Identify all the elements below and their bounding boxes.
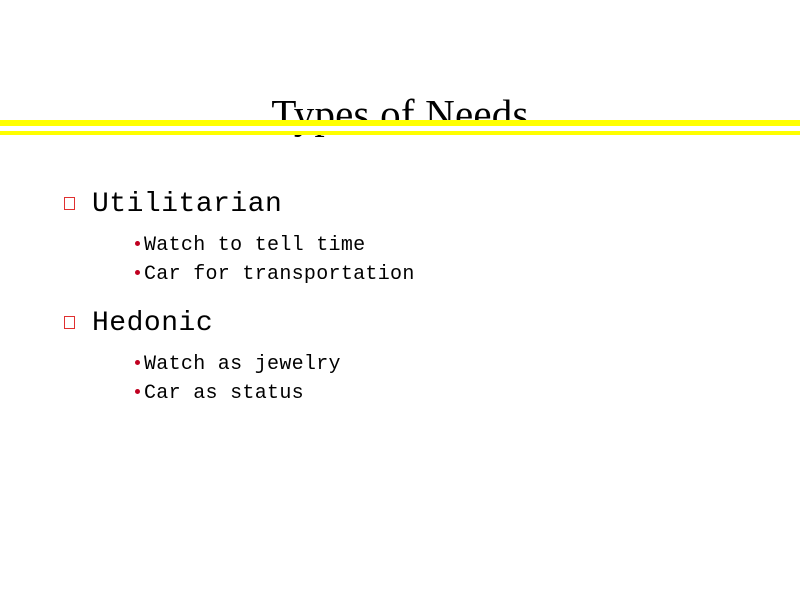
presentation-slide: Types of Needs Utilitarian Watch to tell…	[0, 0, 800, 600]
outline-level1-row: Utilitarian	[0, 186, 800, 226]
outline-level2-list: Watch as jewelry Car as status	[0, 351, 800, 409]
outline-level2-label: Watch as jewelry	[144, 351, 341, 379]
outline-level2-list: Watch to tell time Car for transportatio…	[0, 232, 800, 290]
round-dot-bullet-icon	[135, 389, 140, 394]
outline-level1-label: Hedonic	[92, 305, 213, 343]
list-item: Watch as jewelry	[0, 351, 800, 380]
outline-group-utilitarian: Utilitarian Watch to tell time Car for t…	[0, 186, 800, 290]
outline-level2-label: Watch to tell time	[144, 232, 365, 260]
hollow-square-bullet-icon	[64, 316, 75, 329]
outline-group-hedonic: Hedonic Watch as jewelry Car as status	[0, 305, 800, 409]
slide-body: Utilitarian Watch to tell time Car for t…	[0, 150, 800, 600]
outline-level2-label: Car as status	[144, 380, 304, 408]
list-item: Car for transportation	[0, 261, 800, 290]
round-dot-bullet-icon	[135, 241, 140, 246]
outline-level1-row: Hedonic	[0, 305, 800, 345]
round-dot-bullet-icon	[135, 360, 140, 365]
divider-bar-thin	[0, 131, 800, 135]
outline-level1-label: Utilitarian	[92, 186, 282, 224]
outline-level2-label: Car for transportation	[144, 261, 415, 289]
list-item: Watch to tell time	[0, 232, 800, 261]
title-divider	[0, 120, 800, 135]
hollow-square-bullet-icon	[64, 197, 75, 210]
list-item: Car as status	[0, 380, 800, 409]
round-dot-bullet-icon	[135, 270, 140, 275]
